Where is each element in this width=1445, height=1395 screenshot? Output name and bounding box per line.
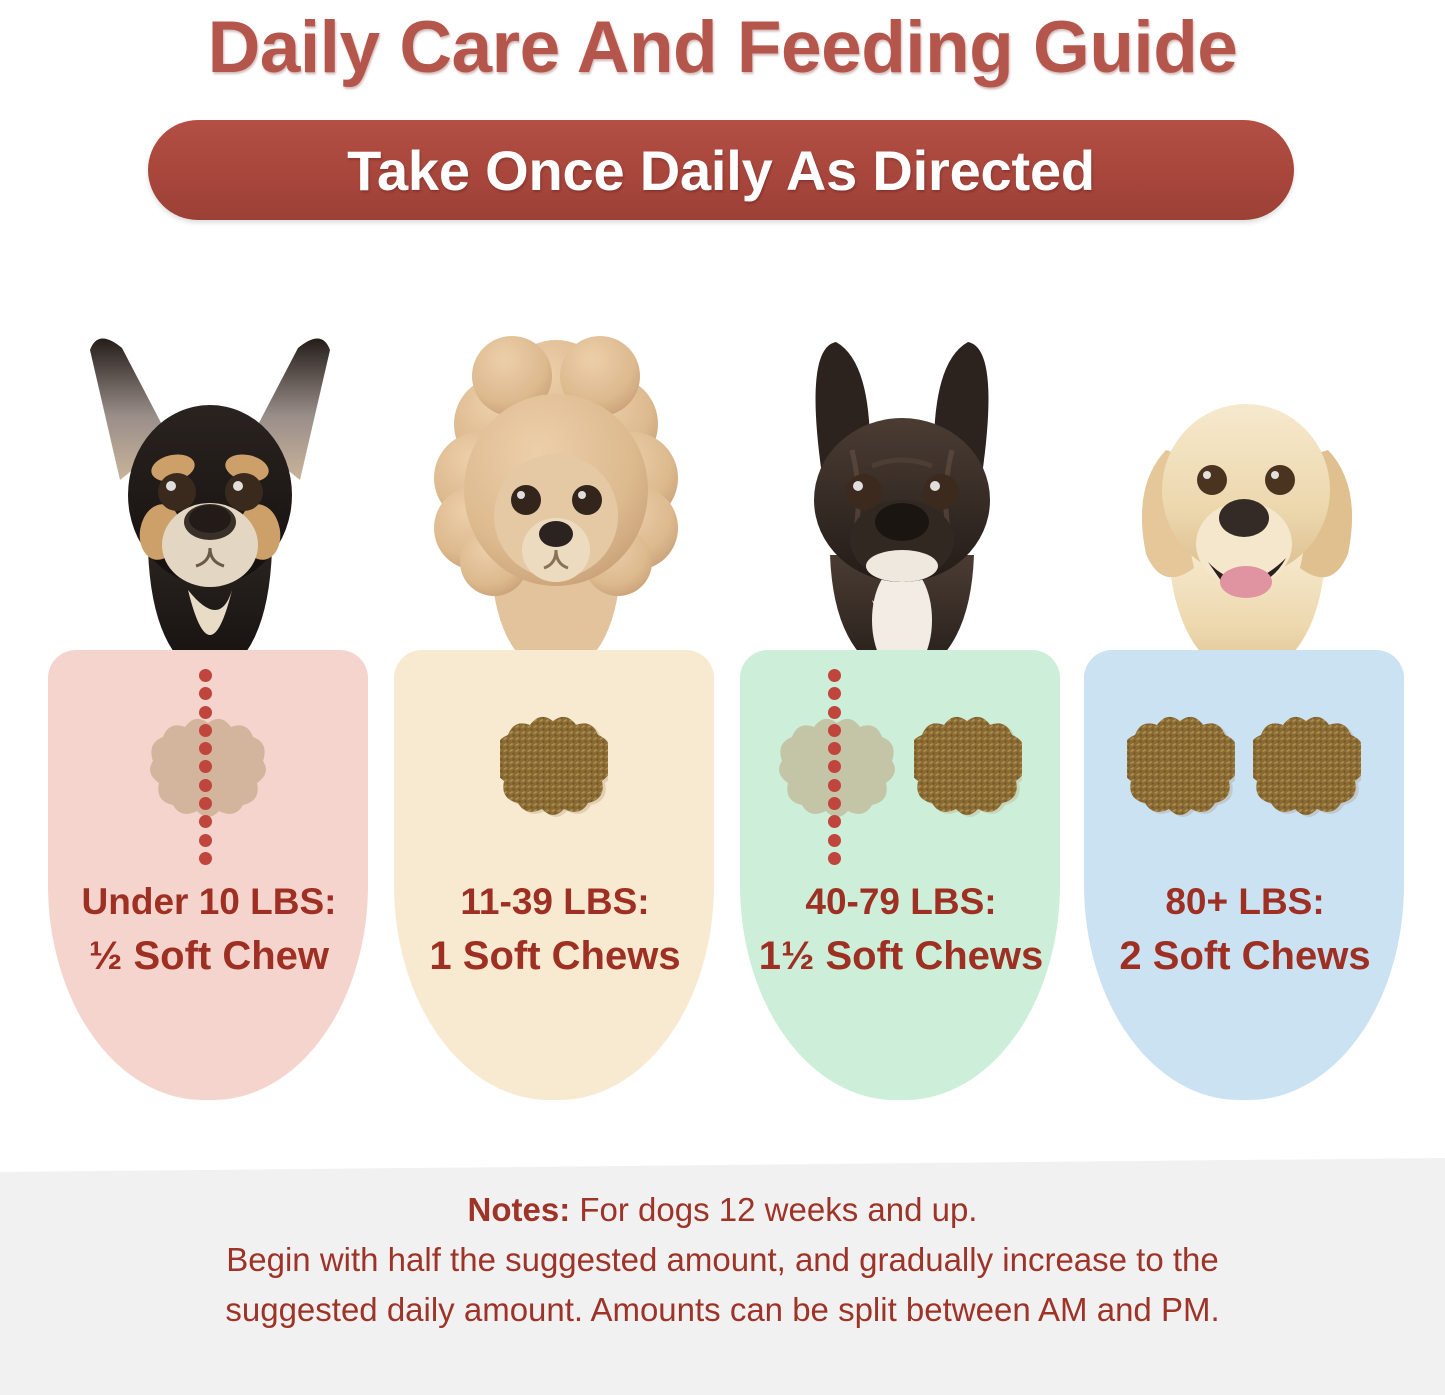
divider-dot bbox=[199, 852, 212, 865]
divider-dot bbox=[828, 834, 841, 847]
dog-photo-golden-retriever bbox=[1082, 300, 1410, 680]
divider-dot bbox=[828, 706, 841, 719]
weight-range: Under 10 LBS: bbox=[48, 878, 368, 926]
feeding-guide-page: Daily Care And Feeding Guide Take Once D… bbox=[0, 0, 1445, 1395]
dosage-label: 40-79 LBS: 1½ Soft Chews bbox=[740, 878, 1060, 982]
dose-amount: 1½ Soft Chews bbox=[740, 930, 1060, 982]
divider-dot bbox=[199, 687, 212, 700]
pouch-80-plus-lbs: 80+ LBS: 2 Soft Chews bbox=[1084, 650, 1404, 1100]
half-divider-dots bbox=[827, 669, 841, 865]
notes-line-1-rest: For dogs 12 weeks and up. bbox=[570, 1191, 977, 1228]
chew-half bbox=[778, 711, 896, 819]
dosage-card-under-10-lbs: Under 10 LBS: ½ Soft Chew bbox=[46, 300, 374, 1120]
dog-photo-poodle bbox=[392, 300, 720, 680]
pouch-11-39-lbs: 11-39 LBS: 1 Soft Chews bbox=[394, 650, 714, 1100]
dose-amount: ½ Soft Chew bbox=[48, 930, 368, 982]
divider-dot bbox=[199, 834, 212, 847]
divider-dot bbox=[828, 815, 841, 828]
chew-row bbox=[1084, 695, 1404, 835]
divider-dot bbox=[828, 760, 841, 773]
divider-dot bbox=[199, 742, 212, 755]
divider-dot bbox=[828, 742, 841, 755]
dosage-card-11-39-lbs: 11-39 LBS: 1 Soft Chews bbox=[392, 300, 720, 1120]
dosage-card-40-79-lbs: 40-79 LBS: 1½ Soft Chews bbox=[738, 300, 1066, 1120]
chew-full bbox=[1253, 711, 1361, 819]
notes-line-3: suggested daily amount. Amounts can be s… bbox=[70, 1285, 1375, 1335]
divider-dot bbox=[199, 724, 212, 737]
divider-dot bbox=[199, 815, 212, 828]
chew-half bbox=[149, 711, 267, 819]
divider-dot bbox=[199, 779, 212, 792]
notes-block: Notes: For dogs 12 weeks and up. Begin w… bbox=[0, 1185, 1445, 1335]
pouch-40-79-lbs: 40-79 LBS: 1½ Soft Chews bbox=[740, 650, 1060, 1100]
banner-label: Take Once Daily As Directed bbox=[347, 138, 1095, 203]
divider-dot bbox=[199, 760, 212, 773]
divider-dot bbox=[199, 797, 212, 810]
weight-range: 40-79 LBS: bbox=[740, 878, 1060, 926]
chew-row bbox=[740, 695, 1060, 835]
pouch-under-10-lbs: Under 10 LBS: ½ Soft Chew bbox=[48, 650, 368, 1100]
dosage-label: Under 10 LBS: ½ Soft Chew bbox=[48, 878, 368, 982]
notes-line-2: Begin with half the suggested amount, an… bbox=[70, 1235, 1375, 1285]
chew-row bbox=[394, 695, 714, 835]
dose-amount: 2 Soft Chews bbox=[1084, 930, 1404, 982]
page-title: Daily Care And Feeding Guide bbox=[0, 6, 1445, 89]
divider-dot bbox=[828, 687, 841, 700]
half-divider-dots bbox=[198, 669, 212, 865]
dosage-label: 11-39 LBS: 1 Soft Chews bbox=[394, 878, 714, 982]
dog-photo-chihuahua bbox=[46, 300, 374, 680]
notes-label: Notes: bbox=[468, 1191, 571, 1228]
notes-line-1: Notes: For dogs 12 weeks and up. bbox=[70, 1185, 1375, 1235]
chew-full bbox=[914, 711, 1022, 819]
dog-photo-french-bulldog bbox=[738, 300, 1066, 680]
divider-dot bbox=[828, 797, 841, 810]
weight-range: 80+ LBS: bbox=[1084, 878, 1404, 926]
divider-dot bbox=[828, 852, 841, 865]
divider-dot bbox=[828, 724, 841, 737]
dosage-cards: Under 10 LBS: ½ Soft Chew bbox=[0, 300, 1445, 1120]
divider-dot bbox=[199, 669, 212, 682]
divider-dot bbox=[828, 779, 841, 792]
chew-row bbox=[48, 695, 368, 835]
divider-dot bbox=[828, 669, 841, 682]
weight-range: 11-39 LBS: bbox=[394, 878, 714, 926]
dosage-label: 80+ LBS: 2 Soft Chews bbox=[1084, 878, 1404, 982]
divider-dot bbox=[199, 706, 212, 719]
chew-full bbox=[500, 711, 608, 819]
directions-banner: Take Once Daily As Directed bbox=[148, 120, 1294, 220]
chew-full bbox=[1127, 711, 1235, 819]
dose-amount: 1 Soft Chews bbox=[394, 930, 714, 982]
dosage-card-80-plus-lbs: 80+ LBS: 2 Soft Chews bbox=[1082, 300, 1410, 1120]
